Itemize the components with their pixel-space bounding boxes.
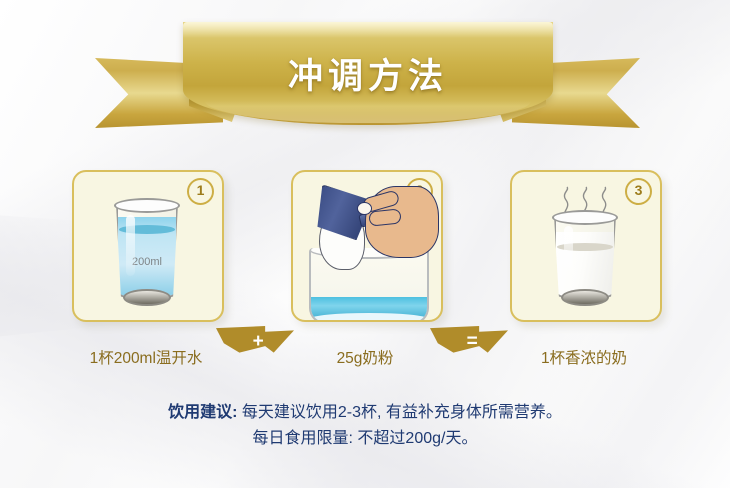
ribbon-banner: 冲调方法	[95, 22, 640, 142]
milk-glass-shine	[564, 226, 573, 279]
step-panel-2: 2	[291, 170, 443, 322]
glass-rim	[114, 198, 180, 213]
glass-body: 200ml	[116, 204, 178, 298]
step-caption-3: 1杯香浓的奶	[510, 346, 658, 368]
advisory-line-1-text: 每天建议饮用2-3杯, 有益补充身体所需营养。	[237, 404, 561, 421]
milk-glass-base	[561, 289, 608, 306]
step-badge-3: 3	[625, 178, 652, 205]
plus-arrow: +	[216, 326, 294, 362]
promo-page: 冲调方法 1 200ml 2	[0, 0, 730, 488]
thumb-icon	[357, 202, 372, 215]
milk-glass-rim	[552, 210, 618, 225]
step-panel-3: 3	[510, 170, 662, 322]
glass-base	[123, 289, 170, 306]
step-badge-1: 1	[187, 178, 214, 205]
milk-glass-body	[554, 216, 616, 298]
milk-glass-icon	[554, 216, 616, 298]
advisory-line-1: 饮用建议: 每天建议饮用2-3杯, 有益补充身体所需营养。	[0, 400, 730, 426]
advisory-text: 饮用建议: 每天建议饮用2-3杯, 有益补充身体所需营养。 每日食用限量: 不超…	[0, 400, 730, 452]
step-panel-1: 1 200ml	[72, 170, 224, 322]
ribbon-main-band: 冲调方法	[183, 22, 553, 125]
equals-arrow: =	[430, 326, 508, 362]
advisory-line-2: 每日食用限量: 不超过200g/天。	[0, 426, 730, 452]
plus-symbol: +	[247, 332, 269, 352]
glass-shine	[126, 215, 135, 276]
advisory-label: 饮用建议:	[168, 404, 237, 421]
equals-symbol: =	[461, 332, 483, 352]
mixing-glass-water-surface	[311, 313, 427, 322]
step-caption-1: 1杯200ml温开水	[72, 346, 220, 368]
step-caption-2: 25g奶粉	[291, 346, 439, 368]
mixing-glass-water	[311, 297, 427, 322]
banner-title: 冲调方法	[183, 48, 553, 99]
water-glass-icon: 200ml	[116, 204, 178, 298]
